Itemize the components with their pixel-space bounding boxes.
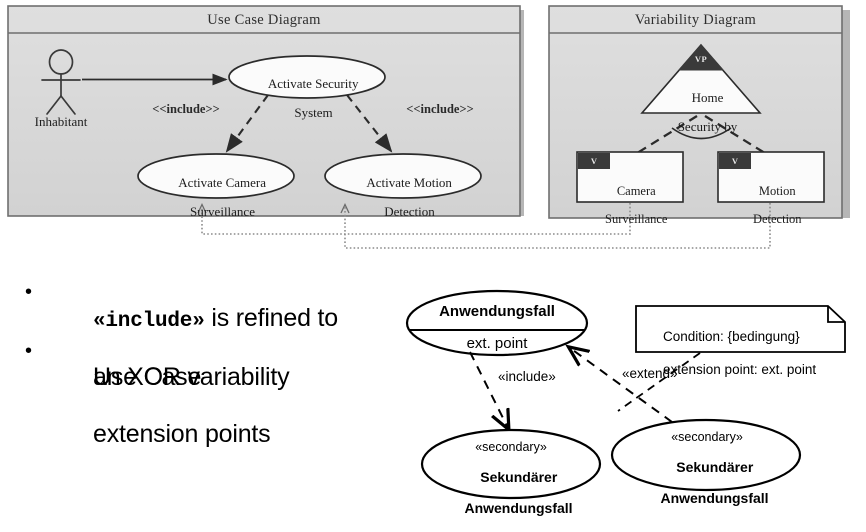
uc3-line2: Detection	[384, 204, 435, 219]
variation-point-tag: VP	[679, 54, 723, 64]
slide-canvas: Use Case Diagram Variability Diagram Inh…	[0, 0, 866, 503]
bullet-1-rest1: is refined to	[205, 304, 338, 332]
actor-label: Inhabitant	[11, 115, 111, 130]
note-line-2: extension point: ext. point	[663, 362, 816, 377]
sec-right-line2: Anwendungsfall	[660, 490, 768, 506]
secondary-left-label: Sekundärer Anwendungsfall	[421, 455, 601, 532]
use-case-label-activate-motion-detection: Activate Motion Detection	[325, 161, 481, 234]
extend-edge-label: «extend»	[622, 366, 678, 381]
bullet-1-stereotype: «include»	[93, 310, 205, 333]
use-case-label-activate-security-system: Activate Security System	[229, 62, 385, 135]
variant-label-camera-surveillance: Camera Surveillance	[577, 170, 683, 240]
bullet-marker-1: •	[25, 282, 32, 302]
secondary-right-label: Sekundärer Anwendungsfall	[613, 445, 801, 522]
include-edge-line	[470, 352, 508, 428]
include-label-right: <<include>>	[385, 102, 495, 116]
secondary-left-stereotype: «secondary»	[421, 440, 601, 454]
variant2-line1: Motion	[759, 184, 796, 198]
uc2-line2: Surveillance	[190, 204, 255, 219]
bullet-2-rest2: extension points	[93, 420, 270, 448]
primary-use-case-extension-point: ext. point	[407, 335, 587, 352]
uc1-line2: System	[294, 105, 332, 120]
uc3-line1: Activate Motion	[366, 175, 452, 190]
variant1-line1: Camera	[617, 184, 656, 198]
uc2-line1: Activate Camera	[178, 175, 266, 190]
variant-tag-camera: V	[578, 156, 610, 166]
secondary-right-stereotype: «secondary»	[613, 430, 801, 444]
include-edge-label: «include»	[498, 369, 556, 384]
note-line-1: Condition: {bedingung}	[663, 329, 800, 344]
bullet-marker-2: •	[25, 341, 32, 361]
use-case-panel-title: Use Case Diagram	[8, 12, 520, 29]
sec-left-line1: Sekundärer	[480, 469, 557, 485]
include-label-left: <<include>>	[131, 102, 241, 116]
sec-right-line1: Sekundärer	[676, 459, 753, 475]
vp-line2: Security by	[678, 119, 738, 134]
variability-panel-title: Variability Diagram	[549, 12, 842, 29]
bullet-item-2: Use Case extension points	[66, 334, 406, 478]
use-case-label-activate-camera-surveillance: Activate Camera Surveillance	[138, 161, 294, 234]
bullet-2-rest1: Use Case	[93, 363, 201, 391]
variant-tag-motion: V	[719, 156, 751, 166]
variation-point-label: Home Security by	[641, 76, 761, 149]
vp-line1: Home	[692, 90, 724, 105]
primary-use-case-name: Anwendungsfall	[407, 303, 587, 320]
variant1-line2: Surveillance	[605, 212, 667, 226]
variant2-line2: Detection	[753, 212, 802, 226]
uc1-line1: Activate Security	[268, 76, 359, 91]
variant-label-motion-detection: Motion Detection	[718, 170, 824, 240]
note-text: Condition: {bedingung} extension point: …	[648, 313, 838, 394]
